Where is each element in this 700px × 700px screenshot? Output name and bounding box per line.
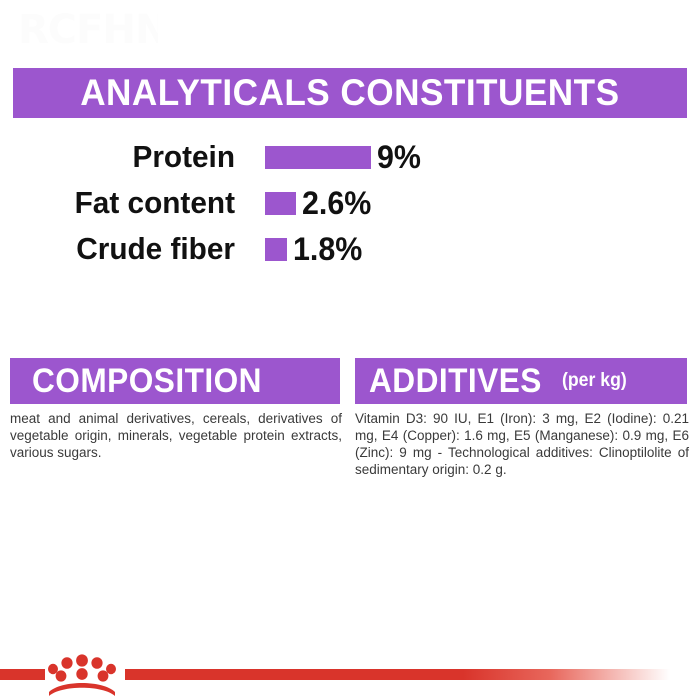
- additives-header-bar: ADDITIVES (per kg): [355, 358, 687, 404]
- constituent-label: Crude fiber: [9, 231, 235, 267]
- constituents-list: Protein 9% Fat content 2.6% Crude fiber …: [0, 136, 700, 274]
- constituent-value: 2.6%: [302, 185, 371, 222]
- constituent-bar: [265, 146, 371, 169]
- constituent-label: Fat content: [9, 185, 235, 221]
- constituent-value: 9%: [377, 139, 421, 176]
- constituent-bar: [265, 238, 287, 261]
- additives-header-subtitle: (per kg): [562, 370, 627, 392]
- constituent-row: Protein 9%: [0, 136, 700, 178]
- rule-right-segment: [125, 669, 670, 680]
- constituent-value: 1.8%: [293, 231, 362, 268]
- additives-body-text: Vitamin D3: 90 IU, E1 (Iron): 3 mg, E2 (…: [355, 410, 689, 478]
- composition-body-text: meat and animal derivatives, cereals, de…: [10, 410, 342, 461]
- additives-header-title: ADDITIVES: [369, 362, 542, 401]
- composition-header-title: COMPOSITION: [32, 362, 262, 401]
- footer-brand-rule: [0, 648, 700, 700]
- royal-canin-crown-icon: [47, 652, 117, 696]
- faint-watermark: RCFHN: [18, 8, 158, 52]
- constituent-label: Protein: [9, 139, 235, 175]
- analyticals-header-title: ANALYTICALS CONSTITUENTS: [80, 72, 619, 114]
- constituent-row: Fat content 2.6%: [0, 182, 700, 224]
- analyticals-header-bar: ANALYTICALS CONSTITUENTS: [13, 68, 687, 118]
- nutrition-panel: RCFHN ANALYTICALS CONSTITUENTS Protein 9…: [0, 0, 700, 700]
- rule-left-segment: [0, 669, 45, 680]
- composition-header-bar: COMPOSITION: [10, 358, 340, 404]
- constituent-bar: [265, 192, 296, 215]
- constituent-row: Crude fiber 1.8%: [0, 228, 700, 270]
